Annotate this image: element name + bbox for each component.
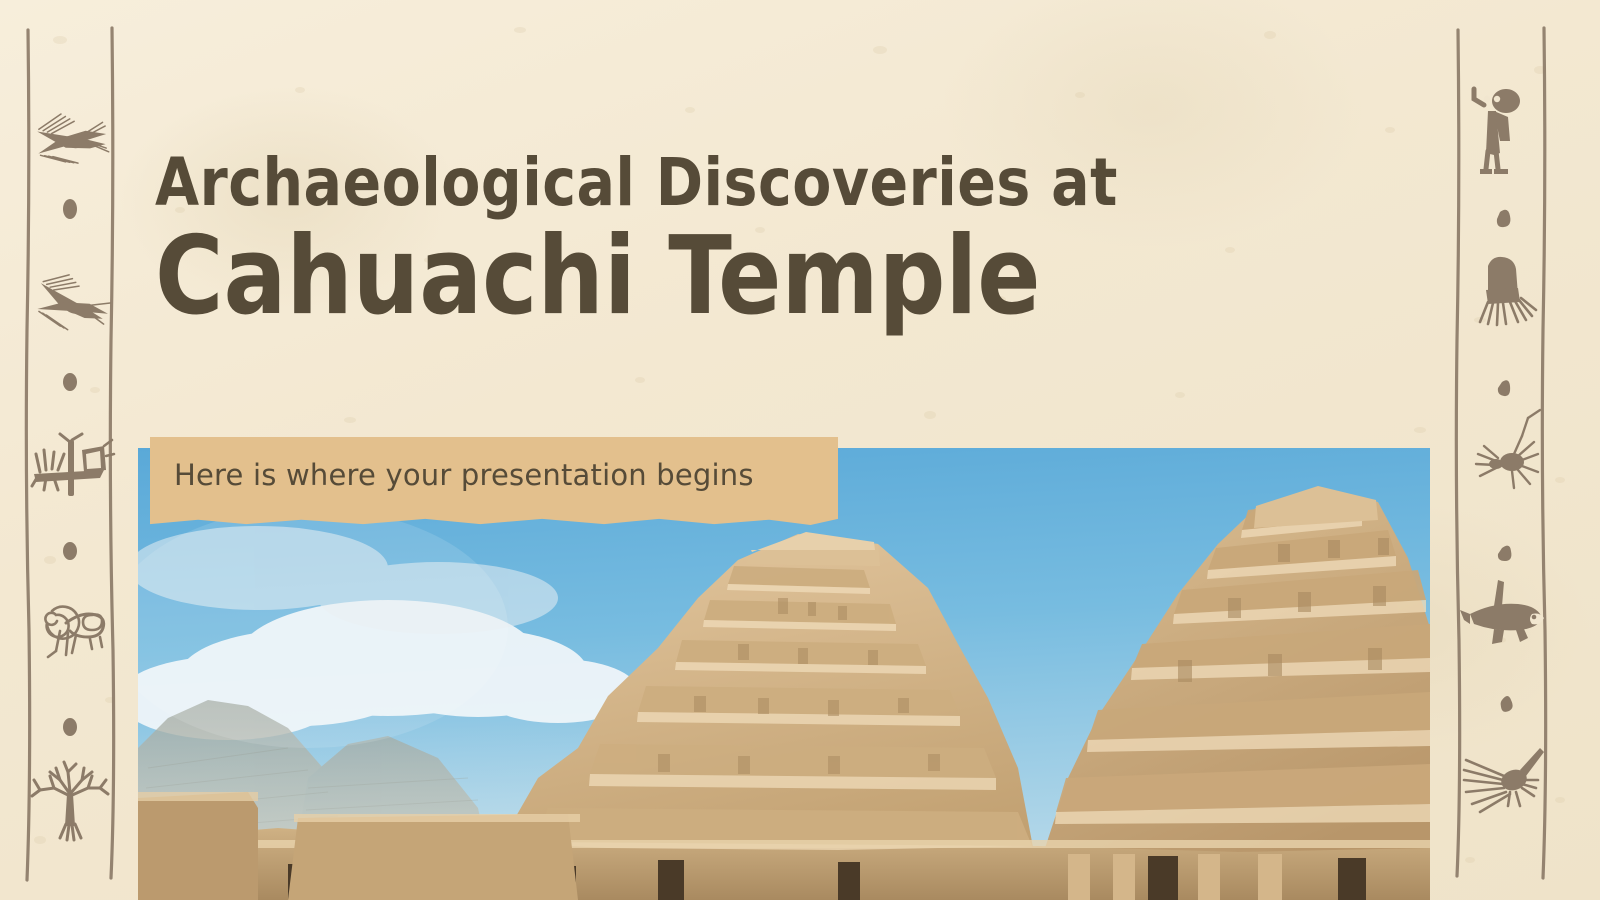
border-rule-line [1542,28,1545,878]
page-title: Archaeological Discoveries at Cahuachi T… [155,150,1335,333]
border-rule-line [1456,30,1459,876]
astronaut-glyph [1474,89,1520,174]
dot-glyph [1501,696,1513,712]
dot-glyph [63,542,77,560]
border-rule-line [26,30,29,880]
dot-glyph [1498,546,1512,561]
dot-glyph [1497,210,1511,227]
subtitle-banner: Here is where your presentation begins [150,437,838,525]
title-slide: Archaeological Discoveries at Cahuachi T… [0,0,1600,900]
dot-glyph [63,373,77,391]
dot-glyph [63,718,77,736]
hummingbird-glyph [33,108,109,168]
tree-glyph [32,762,108,840]
border-rule-line [110,28,113,878]
monkey-spiral-glyph [45,607,103,657]
condor-glyph [1464,748,1544,812]
nazca-lines-border-left [0,0,160,900]
hands-glyph [1480,257,1536,325]
spider-glyph [1476,410,1540,488]
subtitle-text: Here is where your presentation begins [174,458,826,492]
nazca-lines-border-right [1440,0,1600,900]
title-line-1: Archaeological Discoveries at [155,150,1288,216]
dot-glyph [1498,380,1510,396]
dot-glyph [63,199,77,219]
hummingbird-glyph [33,269,115,337]
whale-glyph [1460,580,1544,644]
title-line-2: Cahuachi Temple [155,220,1288,333]
hands-glyph [32,434,114,496]
